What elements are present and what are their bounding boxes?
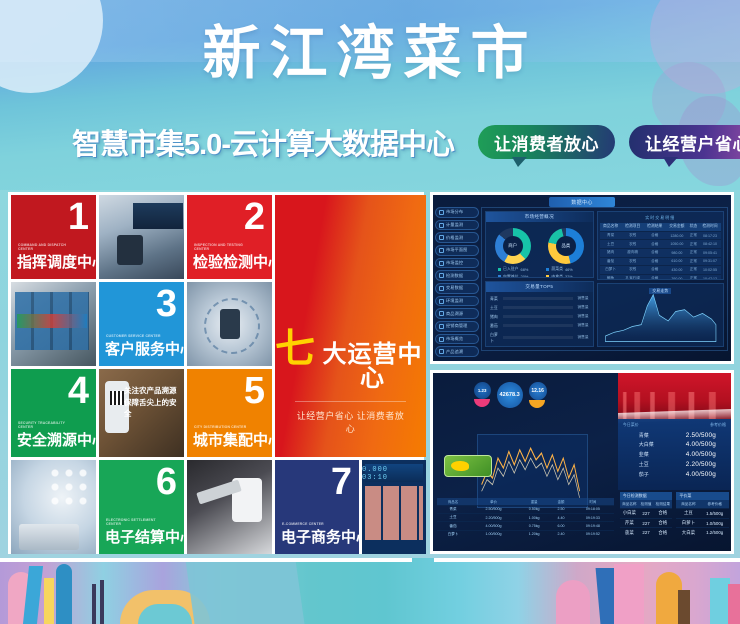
- kpi-badge-2-value: 42678.3: [497, 382, 523, 408]
- transactions-table-card: 实时交易明细 商品名称 检测项目 检测结果 交易金额 状态 检测时间: [597, 211, 724, 280]
- trend-area-svg: [601, 287, 720, 344]
- dashboard-bottom-right: 今日菜价 参考价格 青菜 2.50/500g 大白菜 4.00/500g 韭菜 …: [618, 373, 731, 551]
- price-trend-svg: [478, 435, 587, 508]
- photo-iot-ring-image: [187, 282, 272, 366]
- subtitle-row: 智慧市集5.0-云计算大数据中心 让消费者放心 让经营户省心: [0, 116, 740, 168]
- today-price-panel-title: 今日菜价: [623, 422, 639, 428]
- table-row: 鲫鱼 孔雀石绿 合格 760.00 正常 10:47:12: [600, 274, 721, 279]
- footer-shape-person-9: [678, 590, 690, 624]
- cell: 6.00: [550, 522, 571, 530]
- kiosk-readout-weight: 0.000: [362, 466, 388, 474]
- center-tile-7-body: 7 E-COMMERCE CENTER 电子商务中心: [275, 460, 359, 554]
- price-row: 土豆 2.20/500g: [623, 460, 726, 470]
- cell: 10:02:55: [699, 266, 721, 275]
- tagline-bubble-merchant: 让经营户省心: [629, 125, 740, 159]
- cell: 土豆: [600, 240, 622, 249]
- cell: 孔雀石绿: [622, 274, 644, 279]
- market-logo-badge: [444, 455, 492, 477]
- cell: 09:19:48: [572, 522, 614, 530]
- price-name: 茄子: [639, 471, 649, 478]
- check-data-panel: 今日检测数据 商品名称 检测值 检测结果 小白菜: [618, 490, 675, 551]
- transaction-feed: 商品名 单价 重量 金额 时间 青菜 2.50/500g 0.5: [437, 498, 614, 539]
- row4-right-group: 7 E-COMMERCE CENTER 电子商务中心 0.000 03:10: [275, 460, 426, 554]
- bar-unit: 销售量: [575, 296, 589, 301]
- cell: 4.40: [550, 514, 571, 522]
- camera-icon: [439, 261, 444, 266]
- donut-chart-merchants-label: 商户: [495, 228, 531, 264]
- photo-self-service-kiosk: 0.000 03:10: [362, 460, 426, 554]
- sidebar-item-4[interactable]: 市场监控: [435, 258, 479, 269]
- today-price-header: 今日菜价 参考价格: [623, 422, 726, 430]
- kpi-badges: 1.23 42678.3 12.16: [474, 382, 603, 408]
- footer-shape-person-3: [44, 578, 54, 624]
- bar-name: 土豆: [490, 305, 501, 311]
- cell: 小白菜: [620, 508, 639, 518]
- table-row: 番茄 农残 合格 610.00 正常 09:31:07: [600, 257, 721, 266]
- table-header-row: 商品名称 检测值 检测结果: [620, 500, 673, 508]
- legend-value: 68%: [521, 267, 529, 272]
- cell: 青菜: [600, 231, 622, 240]
- cell: 1.0/500g: [700, 518, 729, 528]
- cell: 4.00/500g: [469, 522, 517, 530]
- cell: 青菜: [437, 505, 470, 513]
- thermometer-icon: [439, 299, 444, 304]
- cell: 白萝卜: [676, 518, 700, 528]
- trend-area-chart: 交易走势: [598, 284, 723, 347]
- check-col-0: 商品名称: [620, 500, 639, 508]
- cell: 2.20/500g: [469, 514, 517, 522]
- promo-number-char: 七: [275, 329, 316, 369]
- cell: 08:42:10: [699, 240, 721, 249]
- check-data-table: 商品名称 检测值 检测结果 小白菜 227 合格: [620, 500, 673, 537]
- photo-qr-traceability: 关注农产品溯源 保障舌尖上的安全: [99, 369, 184, 457]
- cell: 正常: [688, 266, 699, 275]
- cell: 芹菜: [620, 518, 639, 528]
- cell: 227: [639, 508, 653, 518]
- center-tile-7-number: 7: [331, 463, 352, 501]
- promo-panel: 七 大运营中心 让经营户省心 让消费者放心: [275, 195, 426, 457]
- sidebar-item-10[interactable]: 市场概览: [435, 334, 479, 345]
- smile-shape-pink: [474, 399, 490, 407]
- donut-card: 市场经营概况 商户 品类 已入驻户: [485, 211, 594, 278]
- table-row: 白萝卜 1.0/500g: [676, 518, 729, 528]
- page-title: 新江湾菜市: [0, 22, 740, 87]
- tagline-bubble-consumer-label: 让消费者放心: [494, 130, 599, 155]
- market-visualization: 1.23 42678.3 12.16: [433, 373, 618, 551]
- cell: 瘦肉精: [622, 248, 644, 257]
- sidebar-item-11[interactable]: 产品追溯: [435, 346, 479, 357]
- transactions-table-hint: 实时交易明细: [600, 214, 721, 223]
- sidebar-item-8[interactable]: 商品溯源: [435, 308, 479, 319]
- center-tile-7-label: 电子商务中心: [281, 526, 371, 547]
- donut-chart-group: 商户 品类: [486, 222, 593, 266]
- footer-divider-left: [0, 558, 412, 562]
- dashboard-left-column: 市场经营概况 商户 品类 已入驻户: [485, 211, 594, 347]
- cell: 合格: [653, 508, 672, 518]
- sidebar-item-3[interactable]: 市场平面图: [435, 245, 479, 256]
- dashboard-right-column: 实时交易明细 商品名称 检测项目 检测结果 交易金额 状态 检测时间: [597, 211, 724, 347]
- cell: 番茄: [600, 257, 622, 266]
- table-row: 土豆 农残 合格 1050.00 正常 08:42:10: [600, 240, 721, 249]
- donut-legends: 已入驻户 68% 空置摊位 20% 待审核户 12%: [486, 266, 593, 278]
- table-row: 青菜 农残 合格 1280.00 正常 08:17:23: [600, 231, 721, 240]
- cell: 合格: [653, 518, 672, 528]
- sidebar-item-8-label: 商品溯源: [446, 311, 463, 317]
- cell: 合格: [644, 257, 666, 266]
- table-row: 番茄 4.00/500g 0.75kg 6.00 09:19:48: [437, 522, 614, 530]
- table-row: 菠菜 227 合格: [620, 528, 673, 537]
- cell: 09:31:07: [699, 257, 721, 266]
- feed-col-0: 商品名: [437, 498, 470, 506]
- donut-chart-categories-label: 品类: [548, 228, 584, 264]
- cell: 土豆: [437, 514, 470, 522]
- transaction-feed-table: 商品名 单价 重量 金额 时间 青菜 2.50/500g 0.5: [437, 498, 614, 548]
- cell: 合格: [653, 528, 672, 537]
- footer-shape-person-7: [614, 564, 644, 624]
- cell: 合格: [644, 266, 666, 275]
- center-tile-3-body: 3 CUSTOMER SERVICE CENTER 客户服务中心: [99, 282, 184, 366]
- cell: 合格: [644, 240, 666, 249]
- table-col-5: 检测时间: [699, 223, 721, 231]
- tagline-bubble-consumer: 让消费者放心: [478, 125, 615, 159]
- kpi-badge-1-value: 1.23: [474, 382, 491, 399]
- donut-card-title: 市场经营概况: [486, 212, 593, 222]
- center-tile-4-label: 安全溯源中心: [17, 429, 96, 450]
- center-tile-5-body: 5 CITY DISTRIBUTION CENTER 城市集配中心: [187, 369, 272, 457]
- footer-shape-pole-2: [100, 580, 104, 624]
- product-icon: [439, 349, 444, 354]
- sidebar-item-10-label: 市场概览: [446, 336, 463, 342]
- grid-icon: [439, 210, 444, 215]
- today-price-panel: 今日菜价 参考价格 青菜 2.50/500g 大白菜 4.00/500g 韭菜 …: [618, 419, 731, 490]
- photo-network-hands: [11, 460, 96, 554]
- cell: 0.50kg: [518, 505, 551, 513]
- feed-col-1: 单价: [469, 498, 517, 506]
- sidebar-item-6[interactable]: 交易数据: [435, 283, 479, 294]
- cell: 1.20kg: [518, 530, 551, 538]
- kpi-badge-2: 42678.3: [497, 382, 523, 408]
- donut-legend-left: 已入驻户 68% 空置摊位 20% 待审核户 12%: [498, 266, 528, 278]
- chart-icon: [439, 286, 444, 291]
- cell: 1.00kg: [518, 514, 551, 522]
- kpi-badge-1: 1.23: [474, 382, 491, 407]
- kiosk-readout-time: 03:10: [362, 474, 388, 482]
- cell: 09:18:05: [572, 505, 614, 513]
- cell: 农残: [622, 231, 644, 240]
- legend-label: 已入驻户: [503, 266, 519, 272]
- sidebar-item-11-label: 产品追溯: [446, 349, 463, 355]
- footer-shape-pole-1: [92, 584, 96, 624]
- table-header-row: 商品名称 参考价格: [676, 500, 729, 508]
- cell: 鲫鱼: [600, 274, 622, 279]
- feed-col-4: 时间: [572, 498, 614, 506]
- dashboard-bottom-screen: 1.23 42678.3 12.16: [433, 373, 731, 551]
- sidebar-item-7[interactable]: 环境监测: [435, 296, 479, 307]
- table-row: 猪肉 瘦肉精 合格 980.00 正常 09:05:41: [600, 248, 721, 257]
- dashboard-top-screenshot: 数据中心 市场分布 计量监测 价格监测 市场平面图 市场监控: [430, 192, 734, 364]
- dashboard-top-screen: 数据中心 市场分布 计量监测 价格监测 市场平面图 市场监控: [433, 195, 731, 361]
- sidebar-item-0[interactable]: 市场分布: [435, 207, 479, 218]
- cell: 白萝卜: [437, 530, 470, 538]
- center-tile-4-body: 4 SECURITY TRACEABILITY CENTER 安全溯源中心: [11, 369, 96, 457]
- poster-header: 新江湾菜市 智慧市集5.0-云计算大数据中心 让消费者放心 让经营户省心: [0, 0, 740, 190]
- price-name: 青菜: [639, 432, 649, 439]
- bar-name: 番茄: [490, 323, 501, 329]
- center-tile-1-body: 1 COMMAND AND DISPATCH CENTER 指挥调度中心: [11, 195, 96, 279]
- top5-card: 交易量TOP5 青菜 销售量 土豆 销售量 猪肉: [485, 281, 594, 348]
- center-tile-2: 2 INSPECTION AND TESTING CENTER 检验检测中心: [187, 195, 272, 279]
- footer-illustration: [0, 558, 740, 624]
- donut-legend-right: 蔬菜类 46% 肉禽类 32% 水产干货类 22%: [546, 266, 580, 278]
- table-col-3: 交易金额: [666, 223, 688, 231]
- photo-network-hands-image: [11, 460, 96, 554]
- cell: 2.50/500g: [469, 505, 517, 513]
- center-tile-6-number: 6: [156, 463, 177, 501]
- tagline-bubble-merchant-label: 让经营户省心: [645, 130, 740, 155]
- center-tile-1: 1 COMMAND AND DISPATCH CENTER 指挥调度中心: [11, 195, 96, 279]
- promo-tagline: 让经营户省心 让消费者放心: [295, 401, 406, 435]
- promo-headline: 七 大运营中心: [275, 329, 426, 391]
- table-col-4: 状态: [688, 223, 699, 231]
- promo-content: 七 大运营中心 让经营户省心 让消费者放心: [275, 329, 426, 435]
- cell: 正常: [688, 274, 699, 279]
- cell: 2.50: [550, 505, 571, 513]
- cell: 菠菜: [620, 528, 639, 537]
- bar-unit: 销售量: [575, 335, 589, 340]
- sidebar-item-3-label: 市场平面图: [446, 247, 467, 253]
- shop-icon: [439, 324, 444, 329]
- center-tile-2-number: 2: [244, 198, 265, 236]
- cell: 合格: [644, 231, 666, 240]
- center-tile-6: 6 ELECTRONIC SETTLEMENT CENTER 电子结算中心: [99, 460, 184, 554]
- trace-icon: [439, 311, 444, 316]
- table-header-row: 商品名称 检测项目 检测结果 交易金额 状态 检测时间: [600, 223, 721, 231]
- legend-label: 蔬菜类: [551, 266, 563, 272]
- top5-card-title: 交易量TOP5: [486, 282, 593, 292]
- scale-icon: [439, 223, 444, 228]
- overview-icon: [439, 337, 444, 342]
- smile-shape-orange: [529, 400, 545, 408]
- legend-value: 32%: [565, 274, 573, 278]
- center-tile-1-label: 指挥调度中心: [17, 251, 96, 272]
- kpi-badge-3: 12.16: [529, 382, 547, 408]
- donut-chart-merchants: 商户: [495, 228, 531, 264]
- bar-row: 猪肉 销售量: [490, 314, 589, 320]
- cheap-vegetable-table: 商品名称 参考价格 土豆 1.5/500g 白萝卜 1.0/500g: [676, 500, 729, 537]
- bar-unit: 销售量: [575, 314, 589, 319]
- tagline-bubbles: 让消费者放心 让经营户省心: [478, 125, 740, 159]
- cell: 农残: [622, 257, 644, 266]
- cell: 1280.00: [666, 231, 688, 240]
- cell: 1.00/500g: [469, 530, 517, 538]
- cell: 430.00: [666, 266, 688, 275]
- cell: 土豆: [676, 508, 700, 518]
- table-header-row: 商品名 单价 重量 金额 时间: [437, 498, 614, 506]
- sidebar-item-7-label: 环境监测: [446, 298, 463, 304]
- price-value: 2.50/500g: [686, 432, 716, 439]
- price-value: 4.00/500g: [686, 441, 716, 448]
- center-tile-3: 3 CUSTOMER SERVICE CENTER 客户服务中心: [99, 282, 184, 366]
- kiosk-readout: 0.000 03:10: [362, 466, 420, 482]
- cell: 白萝卜: [600, 266, 622, 275]
- price-name: 大白菜: [639, 441, 654, 448]
- legend-row: 空置摊位 20%: [498, 274, 528, 278]
- bar-name: 白萝卜: [490, 332, 501, 344]
- bar-name: 青菜: [490, 296, 501, 302]
- cheap-vegetable-title: 平价菜: [676, 492, 729, 500]
- price-row: 大白菜 4.00/500g: [623, 440, 726, 450]
- table-row: 大白菜 1.2/500g: [676, 528, 729, 537]
- sidebar-item-5-label: 检测数据: [446, 273, 463, 279]
- city-skyline-banner: [618, 373, 731, 419]
- table-col-1: 检测项目: [622, 223, 644, 231]
- center-tile-4-number: 4: [68, 372, 89, 410]
- check-data-title: 今日检测数据: [620, 492, 673, 500]
- photo-command-room-image: [99, 195, 184, 279]
- cell: 番茄: [437, 522, 470, 530]
- bar-row: 白萝卜 销售量: [490, 332, 589, 344]
- photo-display-wall: [11, 282, 96, 366]
- price-icon: [439, 235, 444, 240]
- legend-label: 空置摊位: [503, 274, 519, 278]
- sidebar-item-1[interactable]: 计量监测: [435, 220, 479, 231]
- legend-value: 46%: [565, 267, 573, 272]
- table-row: 土豆 2.20/500g 1.00kg 4.40 09:19:33: [437, 514, 614, 522]
- cell: 正常: [688, 231, 699, 240]
- photo-command-room: [99, 195, 184, 279]
- table-row: 芹菜 227 合格: [620, 518, 673, 528]
- price-row: 青菜 2.50/500g: [623, 430, 726, 440]
- footer-divider-right: [434, 558, 740, 562]
- center-tile-3-label: 客户服务中心: [105, 338, 184, 359]
- center-tile-2-label: 检验检测中心: [193, 251, 272, 272]
- cell: 980.00: [666, 248, 688, 257]
- trend-area-card: 交易走势: [597, 283, 724, 348]
- cell: 09:19:33: [572, 514, 614, 522]
- price-name: 土豆: [639, 461, 649, 468]
- dashboard-sidebar: 市场分布 计量监测 价格监测 市场平面图 市场监控 检测数据: [435, 207, 479, 357]
- cell: 1.5/500g: [700, 508, 729, 518]
- center-tile-6-label: 电子结算中心: [105, 526, 184, 547]
- cell: 大白菜: [676, 528, 700, 537]
- cell: 合格: [644, 248, 666, 257]
- qr-caption: 关注农产品溯源 保障舌尖上的安全: [124, 385, 180, 420]
- center-tile-5-label: 城市集配中心: [193, 429, 272, 450]
- sidebar-item-1-label: 计量监测: [446, 222, 463, 228]
- trend-area-title: 交易走势: [649, 288, 671, 294]
- flask-icon: [439, 273, 444, 278]
- price-row: 茄子 4.00/500g: [623, 469, 726, 479]
- map-icon: [439, 248, 444, 253]
- dashboard-main: 市场经营概况 商户 品类 已入驻户: [481, 207, 728, 351]
- cell: 正常: [688, 248, 699, 257]
- sidebar-item-0-label: 市场分布: [446, 209, 463, 215]
- trend-area-path: [605, 294, 715, 341]
- bar-row: 番茄 销售量: [490, 323, 589, 329]
- sidebar-item-4-label: 市场监控: [446, 260, 463, 266]
- table-row: 小白菜 227 合格: [620, 508, 673, 518]
- promo-headline-rest: 大运营中心: [319, 343, 426, 391]
- center-tile-2-body: 2 INSPECTION AND TESTING CENTER 检验检测中心: [187, 195, 272, 279]
- photo-qr-traceability-image: 关注农产品溯源 保障舌尖上的安全: [99, 369, 184, 457]
- photo-iot-ring: [187, 282, 272, 366]
- center-tile-1-number: 1: [68, 198, 89, 236]
- today-price-col-price: 参考价格: [710, 422, 726, 428]
- center-tile-5: 5 CITY DISTRIBUTION CENTER 城市集配中心: [187, 369, 272, 457]
- legend-label: 肉禽类: [551, 274, 563, 278]
- price-value: 4.00/500g: [686, 471, 716, 478]
- legend-row: 肉禽类 32%: [546, 274, 580, 278]
- cell: 227: [639, 528, 653, 537]
- cell: 1.2/500g: [700, 528, 729, 537]
- sidebar-item-6-label: 交易数据: [446, 285, 463, 291]
- cell: 09:05:41: [699, 248, 721, 257]
- dashboard-bottom-left: 1.23 42678.3 12.16: [433, 373, 618, 551]
- page-subtitle: 智慧市集5.0-云计算大数据中心: [72, 121, 454, 163]
- photo-payment-terminal: [187, 460, 272, 554]
- centers-collage: 1 COMMAND AND DISPATCH CENTER 指挥调度中心 2 I…: [8, 192, 424, 554]
- center-tile-5-number: 5: [244, 372, 265, 410]
- footer-shape-person-5: [556, 580, 590, 624]
- feed-col-2: 重量: [518, 498, 551, 506]
- bar-unit: 销售量: [575, 323, 589, 328]
- cell: 227: [639, 518, 653, 528]
- legend-row: 已入驻户 68%: [498, 266, 528, 272]
- table-row: 青菜 2.50/500g 0.50kg 2.50 09:18:05: [437, 505, 614, 513]
- cell: 08:17:23: [699, 231, 721, 240]
- cell: 合格: [644, 274, 666, 279]
- sidebar-item-2[interactable]: 价格监测: [435, 232, 479, 243]
- bar-row: 青菜 销售量: [490, 296, 589, 302]
- bar-row: 土豆 销售量: [490, 305, 589, 311]
- dashboard-bottom-screenshot: 1.23 42678.3 12.16: [430, 370, 734, 554]
- check-col-2: 检测结果: [653, 500, 672, 508]
- qr-caption-line-1: 关注农产品溯源: [124, 385, 180, 397]
- cell: 农残: [622, 266, 644, 275]
- sidebar-item-5[interactable]: 检测数据: [435, 270, 479, 281]
- transactions-table: 商品名称 检测项目 检测结果 交易金额 状态 检测时间 青菜 农: [600, 223, 721, 280]
- table-row: 白萝卜 农残 合格 430.00 正常 10:02:55: [600, 266, 721, 275]
- table-row: 土豆 1.5/500g: [676, 508, 729, 518]
- cell: 09:19:52: [572, 530, 614, 538]
- cell: 0.75kg: [518, 522, 551, 530]
- footer-shape-person-11: [728, 584, 740, 624]
- footer-shape-arch-inner: [138, 604, 192, 624]
- cell: 2.40: [550, 530, 571, 538]
- cell: 1050.00: [666, 240, 688, 249]
- dashboard-title: 数据中心: [549, 197, 615, 207]
- legend-row: 蔬菜类 46%: [546, 266, 580, 272]
- center-tile-3-number: 3: [156, 285, 177, 323]
- bar-unit: 销售量: [575, 305, 589, 310]
- price-value: 2.20/500g: [686, 461, 716, 468]
- table-row: 白萝卜 1.00/500g 1.20kg 2.40 09:19:52: [437, 530, 614, 538]
- cell: 610.00: [666, 257, 688, 266]
- footer-shape-person-10: [710, 578, 730, 624]
- cheap-col-0: 商品名称: [676, 500, 700, 508]
- sidebar-item-9[interactable]: 经销商管理: [435, 321, 479, 332]
- table-col-2: 检测结果: [644, 223, 666, 231]
- bottom-tables-row: 今日检测数据 商品名称 检测值 检测结果 小白菜: [618, 490, 731, 551]
- photo-display-wall-image: [11, 282, 96, 366]
- cell: 正常: [688, 257, 699, 266]
- bar-name: 猪肉: [490, 314, 501, 320]
- photo-payment-terminal-image: [187, 460, 272, 554]
- qr-caption-line-2: 保障舌尖上的安全: [124, 397, 180, 420]
- top5-bar-list: 青菜 销售量 土豆 销售量 猪肉 销售量: [486, 292, 593, 346]
- cell: 10:47:12: [699, 274, 721, 279]
- price-row: 韭菜 4.00/500g: [623, 450, 726, 460]
